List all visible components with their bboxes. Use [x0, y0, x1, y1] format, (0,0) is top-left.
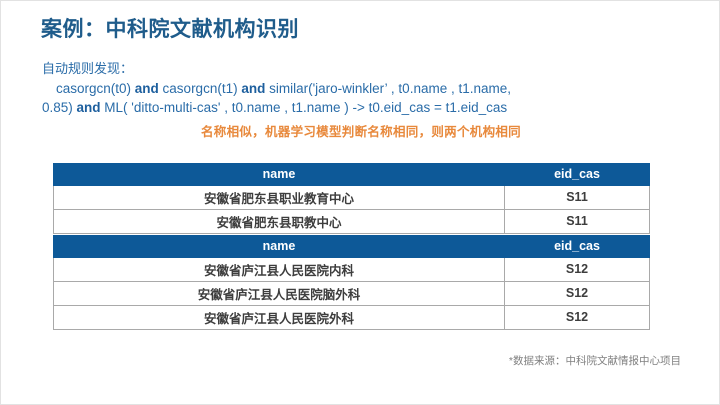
- rule-heading: 自动规则发现：: [42, 59, 682, 78]
- table-1-body: 安徽省肥东县职业教育中心 S11 安徽省肥东县职教中心 S11: [54, 186, 650, 234]
- rule-line1-segment-1: casorgcn(t0): [56, 81, 135, 96]
- cell-name: 安徽省肥东县职业教育中心: [54, 186, 505, 210]
- cell-eid-cas: S12: [505, 306, 650, 330]
- cell-name: 安徽省庐江县人民医院脑外科: [54, 282, 505, 306]
- table-row: 安徽省庐江县人民医院内科 S12: [54, 258, 650, 282]
- annotation-text: 名称相似，机器学习模型判断名称相同，则两个机构相同: [1, 121, 720, 140]
- rule-line2-segment-1: 0.85): [42, 100, 77, 115]
- cell-eid-cas: S11: [505, 186, 650, 210]
- cell-name: 安徽省庐江县人民医院内科: [54, 258, 505, 282]
- cell-eid-cas: S11: [505, 210, 650, 234]
- table-header-row: name eid_cas: [54, 236, 650, 258]
- rule-keyword-and-1: and: [135, 81, 159, 96]
- table-2-body: 安徽省庐江县人民医院内科 S12 安徽省庐江县人民医院脑外科 S12 安徽省庐江…: [54, 258, 650, 330]
- rule-line1-segment-2: casorgcn(t1): [159, 81, 242, 96]
- rule-line1-segment-3: similar('jaro-winkler’ , t0.name , t1.na…: [265, 81, 511, 96]
- cell-eid-cas: S12: [505, 258, 650, 282]
- rule-keyword-and-3: and: [77, 100, 101, 115]
- rule-block: 自动规则发现： casorgcn(t0) and casorgcn(t1) an…: [42, 59, 682, 117]
- source-note: *数据来源：中科院文献情报中心项目: [509, 353, 681, 368]
- table-row: 安徽省庐江县人民医院外科 S12: [54, 306, 650, 330]
- entity-table-2: name eid_cas 安徽省庐江县人民医院内科 S12 安徽省庐江县人民医院…: [53, 235, 650, 330]
- table-2-header: name eid_cas: [54, 236, 650, 258]
- rule-line-1: casorgcn(t0) and casorgcn(t1) and simila…: [42, 79, 682, 98]
- table-row: 安徽省肥东县职教中心 S11: [54, 210, 650, 234]
- cell-name: 安徽省肥东县职教中心: [54, 210, 505, 234]
- rule-expression: casorgcn(t0) and casorgcn(t1) and simila…: [42, 79, 682, 117]
- cell-name: 安徽省庐江县人民医院外科: [54, 306, 505, 330]
- cell-eid-cas: S12: [505, 282, 650, 306]
- rule-keyword-and-2: and: [241, 81, 265, 96]
- table-header-row: name eid_cas: [54, 164, 650, 186]
- rule-line-2: 0.85) and ML( 'ditto-multi-cas' , t0.nam…: [42, 98, 682, 117]
- column-header-eid-cas: eid_cas: [505, 236, 650, 258]
- entity-table-1: name eid_cas 安徽省肥东县职业教育中心 S11 安徽省肥东县职教中心…: [53, 163, 650, 234]
- column-header-name: name: [54, 164, 505, 186]
- column-header-eid-cas: eid_cas: [505, 164, 650, 186]
- rule-line2-segment-2: ML( 'ditto-multi-cas' , t0.name , t1.nam…: [101, 100, 508, 115]
- page-title: 案例：中科院文献机构识别: [41, 13, 299, 43]
- table-1-header: name eid_cas: [54, 164, 650, 186]
- table-row: 安徽省庐江县人民医院脑外科 S12: [54, 282, 650, 306]
- table-row: 安徽省肥东县职业教育中心 S11: [54, 186, 650, 210]
- slide-container: 案例：中科院文献机构识别 自动规则发现： casorgcn(t0) and ca…: [0, 0, 720, 405]
- column-header-name: name: [54, 236, 505, 258]
